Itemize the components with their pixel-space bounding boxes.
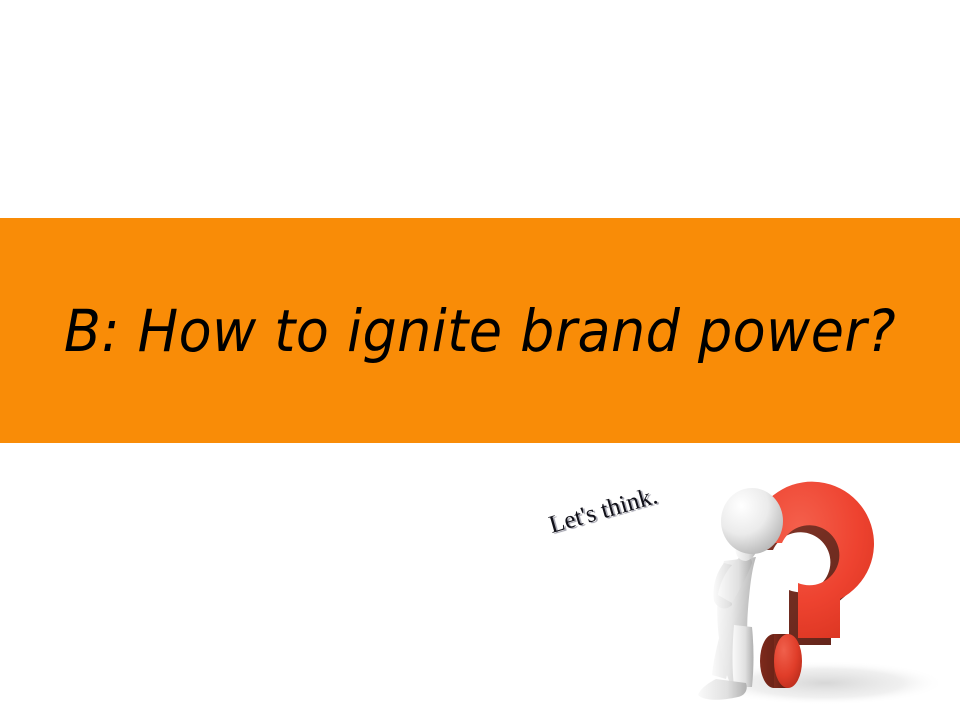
figure-front-leg (733, 625, 754, 687)
lets-think-caption: Let's think. (546, 482, 661, 540)
slide-canvas: B: How to ignite brand power? Let's thin… (0, 0, 960, 720)
page-title: B: How to ignite brand power? (34, 218, 927, 443)
title-band: B: How to ignite brand power? (0, 218, 960, 443)
question-mark-thinker-illustration (690, 443, 960, 720)
figure-head (721, 488, 783, 554)
question-mark-dot (760, 634, 802, 688)
